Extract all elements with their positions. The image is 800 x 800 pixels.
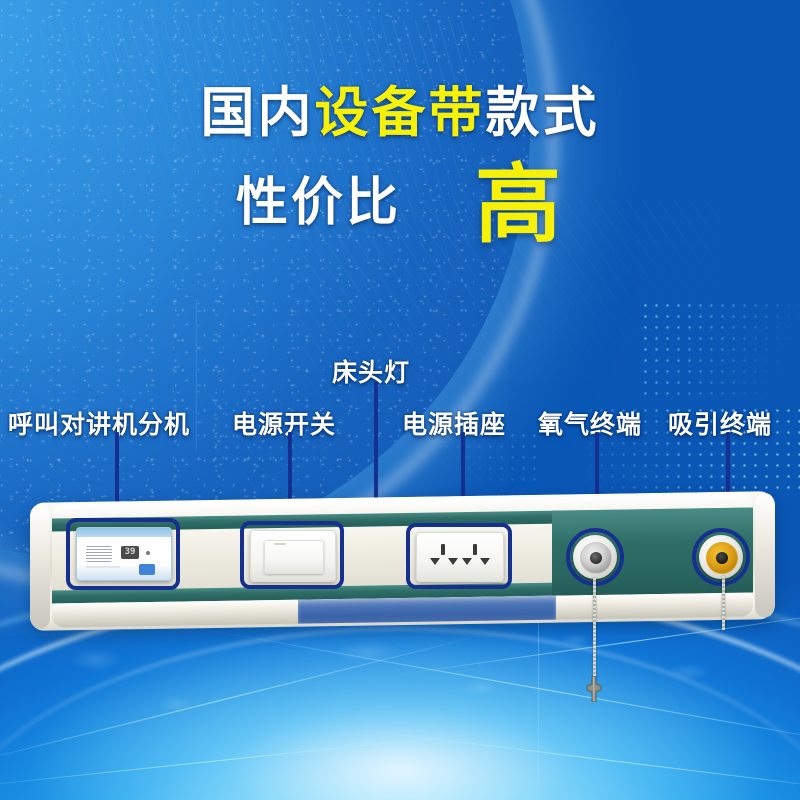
headline-accent-big: 高 [475, 162, 564, 248]
callout-label-power-switch: 电源开关 [232, 412, 336, 437]
headline-seg-3: 款式 [486, 81, 600, 144]
headline-line-1: 国内设备带款式 [0, 86, 800, 140]
headline-seg-2: 设备带 [315, 81, 486, 144]
highlight-box-power-socket [406, 523, 512, 589]
highlight-circle-suction [692, 528, 750, 586]
oxygen-hose [593, 578, 596, 682]
halftone-dots [640, 300, 800, 400]
headline-seg-1: 国内 [201, 81, 315, 144]
oxygen-hose-connector-icon [581, 676, 607, 702]
headline-block: 国内设备带款式 性价比高 [0, 0, 800, 248]
bed-lamp-diffuser [298, 596, 556, 624]
grid-line [538, 600, 539, 800]
callout-label-intercom: 呼叫对讲机分机 [8, 412, 190, 437]
panel-end-cap-left [30, 505, 50, 629]
callout-label-bed-lamp: 床头灯 [332, 360, 410, 385]
callout-label-power-socket: 电源插座 [402, 412, 506, 437]
highlight-box-intercom [66, 518, 180, 590]
highlight-box-power-switch [240, 521, 344, 589]
product-banner: 国内设备带款式 性价比高 呼叫对讲机分机 电源开关 床头灯 电源插座 氧气终端 … [0, 0, 800, 800]
callout-label-suction-outlet: 吸引终端 [668, 412, 772, 437]
headline-subtitle: 性价比 [236, 173, 401, 233]
callout-label-oxygen-outlet: 氧气终端 [538, 412, 642, 437]
panel-end-cap-right [755, 493, 775, 617]
grid-line [196, 300, 197, 450]
suction-hose [722, 576, 725, 630]
halftone-dots [430, 430, 540, 490]
headline-line-2: 性价比高 [0, 162, 800, 248]
